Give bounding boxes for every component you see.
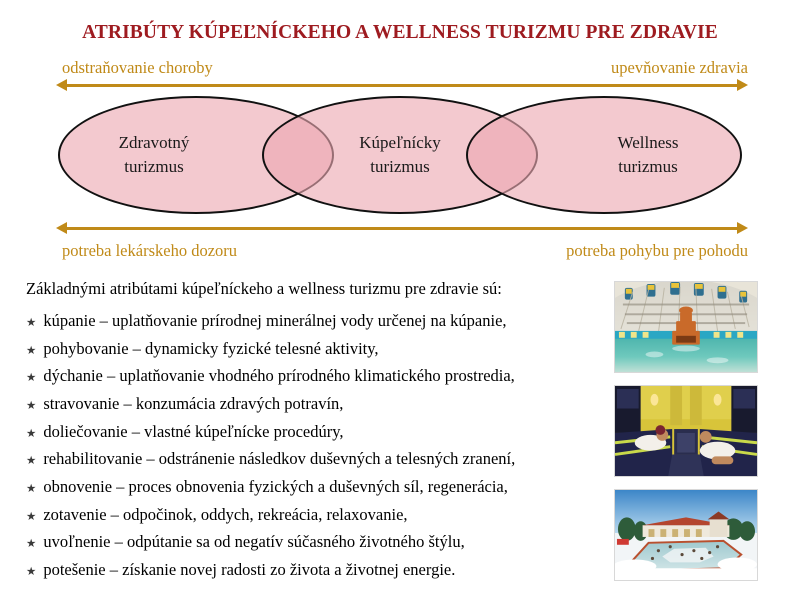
attributes-list: ★kúpanie – uplatňovanie prírodnej minerá… (26, 307, 606, 584)
axis-top-right-label: upevňovanie zdravia (611, 58, 748, 78)
ellipse-wellness-turizmus: Wellness turizmus (466, 96, 742, 214)
attribute-item: ★kúpanie – uplatňovanie prírodnej minerá… (26, 307, 606, 335)
winter-pool-illustration (615, 490, 757, 580)
arrow-right-head-icon (737, 79, 748, 91)
attribute-item-label: kúpanie – uplatňovanie prírodnej minerál… (43, 313, 506, 330)
attribute-item: ★obnovenie – proces obnovenia fyzických … (26, 473, 606, 501)
axis-bottom-left-label: potreba lekárskeho dozoru (62, 241, 237, 261)
ellipse-label-line2: turizmus (124, 157, 184, 176)
attribute-item-label: dýchanie – uplatňovanie vhodného prírodn… (43, 368, 515, 385)
attribute-item: ★dýchanie – uplatňovanie vhodného prírod… (26, 363, 606, 391)
arrow-line (64, 84, 740, 87)
ellipse-label: Zdravotný turizmus (119, 131, 190, 179)
star-bullet-icon: ★ (26, 373, 36, 385)
attributes-section: Základnými atribútami kúpeľníckeho a wel… (26, 278, 606, 584)
venn-diagram: Zdravotný turizmus Kúpeľnícky turizmus W… (0, 96, 800, 216)
ellipse-label: Kúpeľnícky turizmus (359, 131, 441, 179)
star-bullet-icon: ★ (26, 484, 36, 496)
star-bullet-icon: ★ (26, 539, 36, 551)
ellipse-label-line1: Wellness (618, 133, 679, 152)
attribute-item: ★uvoľnenie – odpútanie sa od negatív súč… (26, 529, 606, 557)
star-bullet-icon: ★ (26, 429, 36, 441)
star-bullet-icon: ★ (26, 318, 36, 330)
attribute-item-label: stravovanie – konzumácia zdravých potrav… (43, 396, 343, 413)
ellipse-label-line1: Zdravotný (119, 133, 190, 152)
arrow-line (64, 227, 740, 230)
axis-bottom-right-label: potreba pohybu pre pohodu (566, 241, 748, 261)
ellipse-label-line2: turizmus (370, 157, 430, 176)
star-bullet-icon: ★ (26, 456, 36, 468)
indoor-thermal-pool-dome-photo (614, 281, 758, 373)
arrow-right-head-icon (737, 222, 748, 234)
attribute-item-label: rehabilitovanie – odstránenie následkov … (43, 451, 515, 468)
attribute-item-label: obnovenie – proces obnovenia fyzických a… (43, 479, 508, 496)
intro-paragraph: Základnými atribútami kúpeľníckeho a wel… (26, 278, 606, 300)
attribute-item-label: potešenie – získanie novej radosti zo ži… (43, 562, 455, 579)
ellipse-label-line2: turizmus (618, 157, 678, 176)
attribute-item: ★zotavenie – odpočinok, oddych, rekreáci… (26, 501, 606, 529)
attribute-item-label: zotavenie – odpočinok, oddych, rekreácia… (43, 507, 407, 524)
attribute-item: ★doliečovanie – vlastné kúpeľnícke proce… (26, 418, 606, 446)
top-double-arrow (56, 79, 748, 91)
attribute-item: ★stravovanie – konzumácia zdravých potra… (26, 390, 606, 418)
star-bullet-icon: ★ (26, 401, 36, 413)
attribute-item-label: pohybovanie – dynamicky fyzické telesné … (43, 341, 378, 358)
attribute-item-label: uvoľnenie – odpútanie sa od negatív súča… (43, 534, 464, 551)
attribute-item-label: doliečovanie – vlastné kúpeľnícke proced… (43, 424, 343, 441)
steam-room-loungers-photo (614, 385, 758, 477)
indoor-pool-illustration (615, 282, 757, 372)
outdoor-winter-thermal-pool-photo (614, 489, 758, 581)
star-bullet-icon: ★ (26, 512, 36, 524)
ellipse-label-line1: Kúpeľnícky (359, 133, 441, 152)
page-title: ATRIBÚTY KÚPEĽNÍCKEHO A WELLNESS TURIZMU… (0, 22, 800, 44)
star-bullet-icon: ★ (26, 346, 36, 358)
ellipse-label: Wellness turizmus (618, 131, 679, 179)
attribute-item: ★pohybovanie – dynamicky fyzické telesné… (26, 335, 606, 363)
bottom-double-arrow (56, 222, 748, 234)
attribute-item: ★potešenie – získanie novej radosti zo ž… (26, 556, 606, 584)
star-bullet-icon: ★ (26, 567, 36, 579)
axis-top-left-label: odstraňovanie choroby (62, 58, 213, 78)
attribute-item: ★rehabilitovanie – odstránenie následkov… (26, 446, 606, 474)
steam-room-illustration (615, 386, 757, 476)
